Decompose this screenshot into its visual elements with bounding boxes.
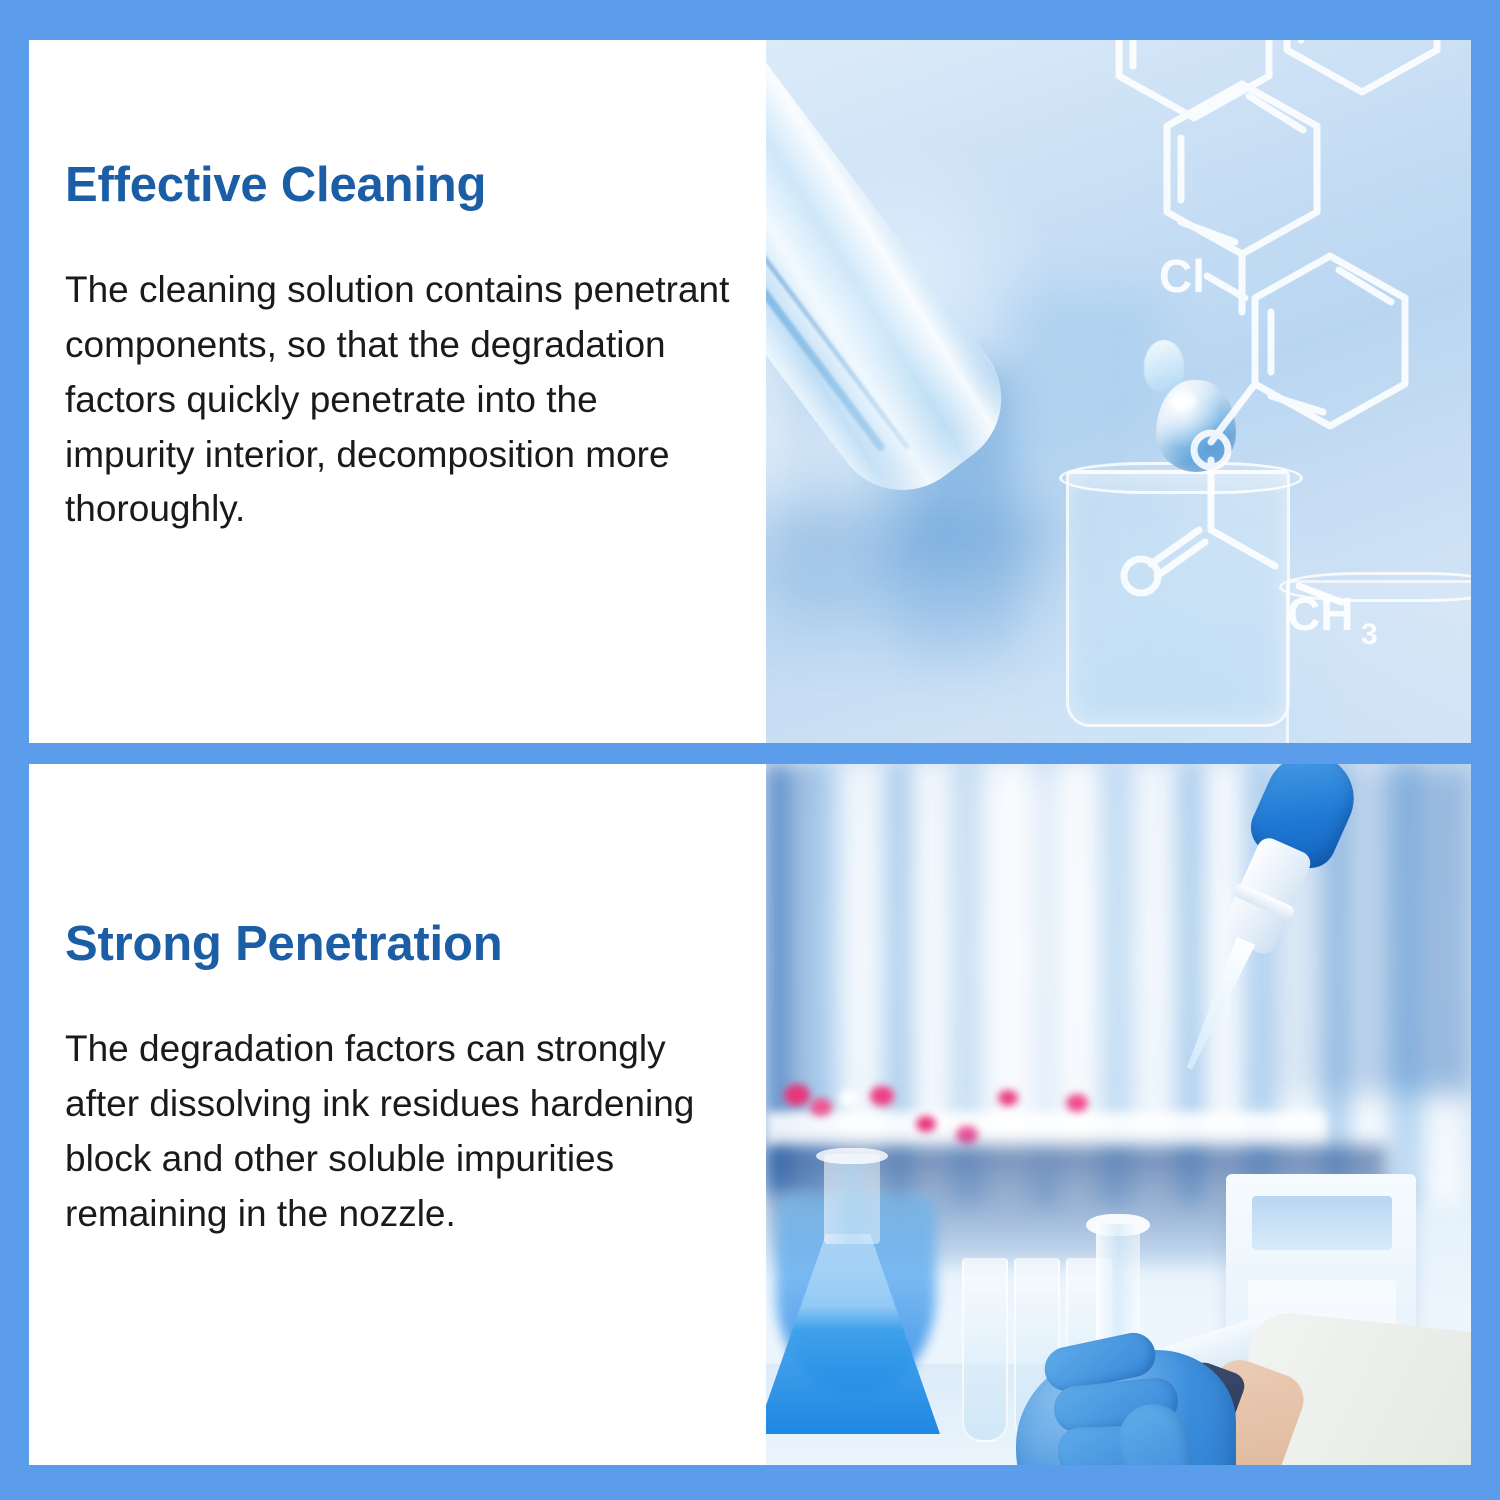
chem-label-cl: Cl (1159, 250, 1205, 302)
background-sample-dots (766, 1064, 1196, 1154)
rack-slot (1252, 1196, 1392, 1250)
panel-divider (29, 743, 1471, 764)
chem-label-ch3-sub: 3 (1361, 618, 1378, 651)
panel-heading-effective-cleaning: Effective Cleaning (65, 160, 755, 211)
chem-label-ch3: CH (1287, 588, 1353, 640)
chemical-structure-overlay: Cl CH 3 (1049, 40, 1471, 730)
text-column-top: Effective Cleaning The cleaning solution… (29, 40, 766, 743)
panel-image-strong-penetration (766, 764, 1471, 1465)
panel-body-strong-penetration: The degradation factors can strongly aft… (65, 1022, 737, 1241)
panel-heading-strong-penetration: Strong Penetration (65, 919, 755, 970)
feature-panel-effective-cleaning: Effective Cleaning The cleaning solution… (29, 40, 1471, 743)
feature-panel-strong-penetration: Strong Penetration The degradation facto… (29, 764, 1471, 1465)
poster-inner-canvas: Effective Cleaning The cleaning solution… (29, 40, 1471, 1465)
poster-root: Effective Cleaning The cleaning solution… (0, 0, 1500, 1500)
blurred-glassware-shadow (766, 510, 1056, 650)
panel-image-effective-cleaning: Cl CH 3 (766, 40, 1471, 743)
erlenmeyer-lip (816, 1148, 888, 1164)
text-column-bottom: Strong Penetration The degradation facto… (29, 764, 766, 1465)
erlenmeyer-neck (824, 1154, 880, 1244)
panel-body-effective-cleaning: The cleaning solution contains penetrant… (65, 263, 737, 537)
